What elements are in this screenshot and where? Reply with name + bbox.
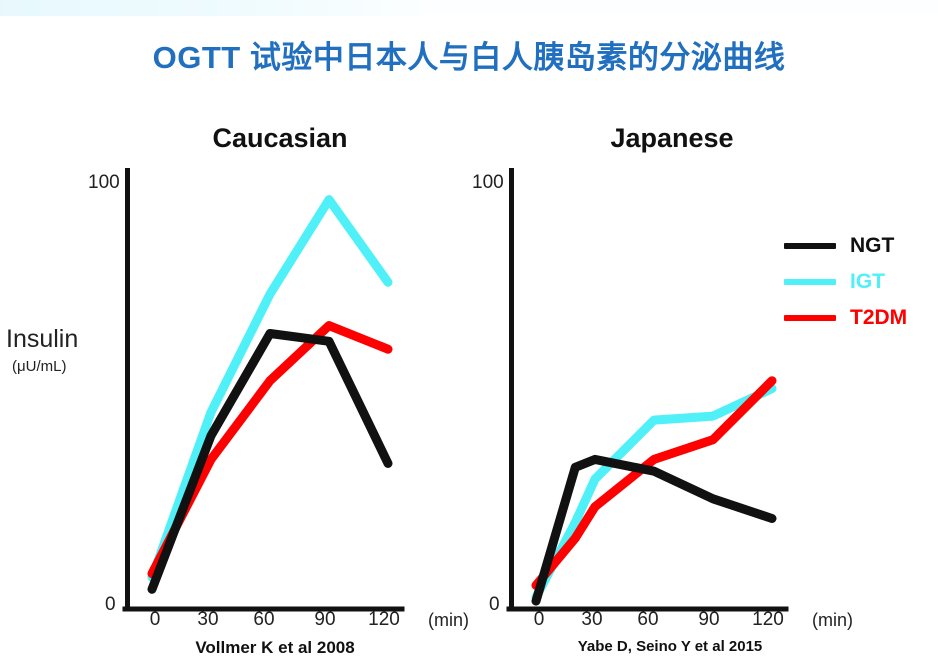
y-axis-zero-label-left: 0 [105, 594, 116, 616]
chart-title-japanese: Japanese [522, 123, 822, 154]
top-decorative-band [0, 0, 420, 16]
y-axis-zero-label-right: 0 [489, 594, 500, 616]
y-axis-max-label-left: 100 [88, 172, 120, 194]
x-axis-unit-left: (min) [428, 610, 469, 631]
citation-japanese: Yabe D, Seino Y et al 2015 [500, 638, 840, 655]
page-title: OGTT 试验中日本人与白人胰岛素的分泌曲线 [0, 32, 938, 77]
y-axis-label-main: Insulin [6, 326, 124, 352]
x-tick-right-0: 0 [519, 609, 559, 631]
slide-canvas: OGTT 试验中日本人与白人胰岛素的分泌曲线 Caucasian Insulin… [0, 0, 938, 664]
legend-label-igt: IGT [850, 270, 885, 294]
x-axis-unit-right: (min) [812, 610, 853, 631]
y-axis-max-label-right: 100 [472, 172, 504, 194]
x-tick-right-90: 90 [689, 609, 729, 631]
x-tick-left-0: 0 [135, 609, 175, 631]
legend-swatch-igt [784, 279, 836, 285]
chart-title-caucasian: Caucasian [130, 123, 430, 154]
legend-item-ngt: NGT [784, 228, 907, 264]
x-tick-left-120: 120 [361, 609, 407, 631]
legend-swatch-t2dm [784, 315, 836, 321]
legend-label-t2dm: T2DM [850, 306, 907, 330]
top-decorative-band-right [420, 0, 938, 14]
x-tick-left-60: 60 [244, 609, 284, 631]
legend-item-igt: IGT [784, 264, 907, 300]
x-tick-right-120: 120 [745, 609, 791, 631]
y-axis-label-group: Insulin (μU/mL) [6, 326, 124, 375]
y-axis-label-unit: (μU/mL) [12, 358, 124, 375]
x-tick-right-30: 30 [572, 609, 612, 631]
curve-caucasian-ngt [152, 334, 388, 590]
curve-caucasian-t2dm [152, 326, 388, 574]
legend-swatch-ngt [784, 243, 836, 249]
citation-caucasian: Vollmer K et al 2008 [110, 638, 440, 658]
x-tick-left-90: 90 [305, 609, 345, 631]
x-tick-left-30: 30 [188, 609, 228, 631]
legend-label-ngt: NGT [850, 234, 894, 258]
chart-plot-caucasian [120, 168, 450, 618]
chart-legend: NGT IGT T2DM [784, 228, 907, 336]
x-tick-right-60: 60 [628, 609, 668, 631]
legend-item-t2dm: T2DM [784, 300, 907, 336]
